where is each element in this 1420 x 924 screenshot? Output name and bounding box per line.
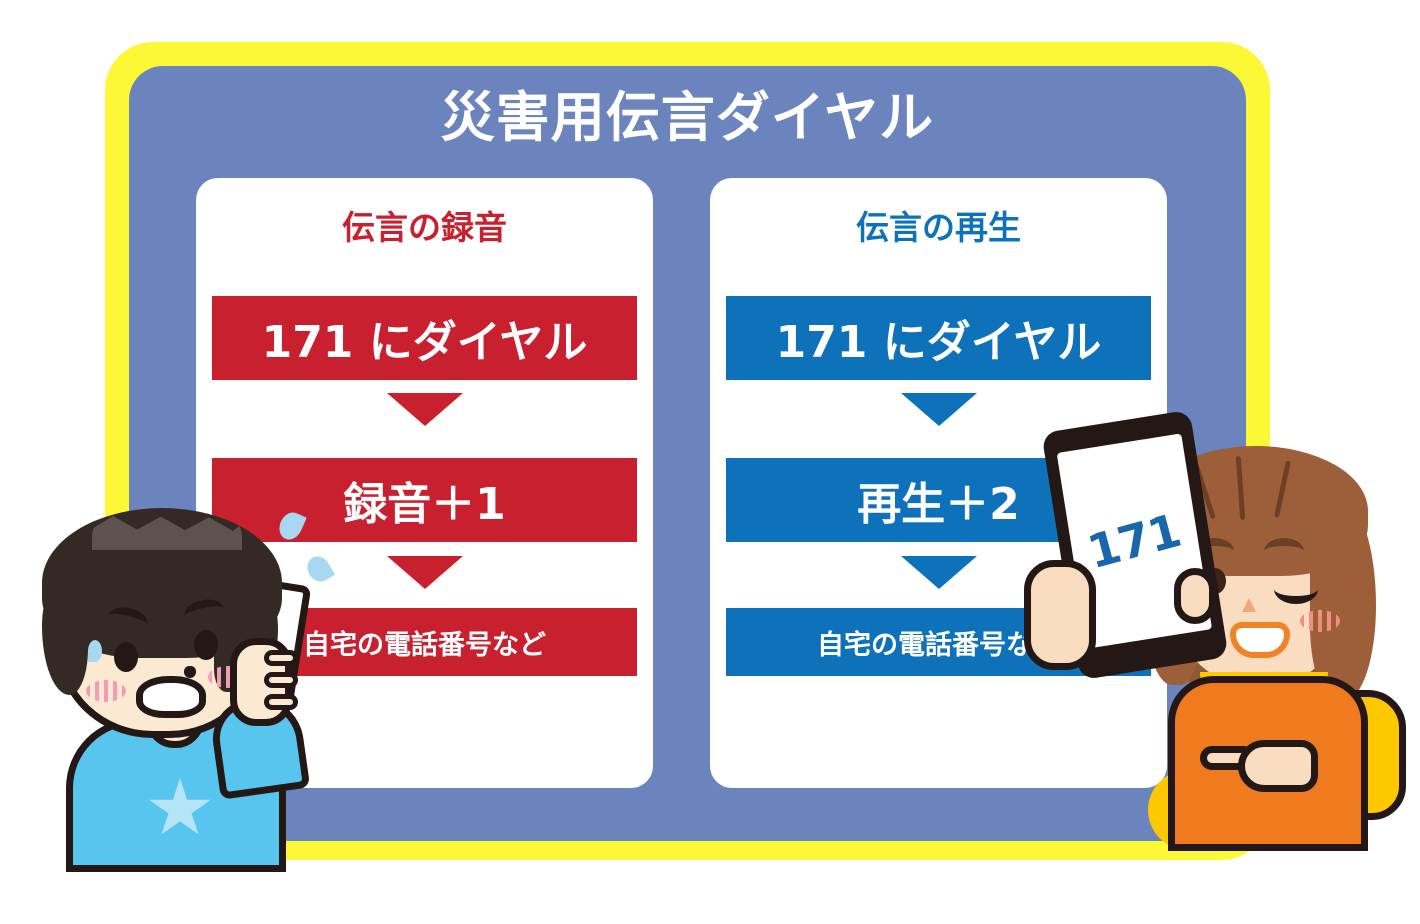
worried-boy-illustration — [18, 490, 348, 890]
playback-step-2-label: 再生＋2 — [857, 468, 1020, 532]
boy-finger-2 — [264, 672, 298, 688]
boy-shirt-hem — [66, 842, 286, 872]
woman-eyebrow-right — [1264, 538, 1304, 564]
playback-arrow-down-2-icon — [901, 556, 977, 589]
sweat-drop-icon-3 — [88, 640, 102, 662]
boy-finger-1 — [264, 650, 298, 666]
boy-nose — [184, 666, 196, 678]
record-step-1-banner: 171 にダイヤル — [212, 296, 637, 380]
woman-cheek-right — [1300, 610, 1340, 632]
playback-step-1-banner: 171 にダイヤル — [726, 296, 1151, 380]
boy-mouth — [136, 676, 206, 718]
woman-pointing-hand — [1238, 740, 1318, 792]
boy-eye-right — [194, 630, 218, 660]
sweat-drop-icon-1 — [275, 509, 306, 544]
record-step-2-label: 録音＋1 — [343, 468, 506, 532]
card-playback-heading: 伝言の再生 — [710, 210, 1167, 246]
woman-nose — [1242, 598, 1256, 612]
record-arrow-down-1-icon — [387, 393, 463, 426]
record-arrow-down-2-icon — [387, 556, 463, 589]
woman-mouth — [1230, 622, 1290, 658]
boy-cheek-left — [86, 680, 126, 702]
card-record-heading: 伝言の録音 — [196, 210, 653, 246]
smiling-woman-illustration: 171 — [1052, 440, 1420, 890]
poster-stage: 災害用伝言ダイヤル 伝言の録音 171 にダイヤル 録音＋1 自宅の電話番号など… — [0, 0, 1420, 924]
playback-step-1-label: 171 にダイヤル — [776, 306, 1102, 370]
smartphone-screen-number: 171 — [1082, 503, 1186, 579]
boy-finger-3 — [264, 694, 298, 710]
woman-thumb — [1174, 568, 1216, 624]
page-title: 災害用伝言ダイヤル — [129, 88, 1246, 147]
playback-arrow-down-1-icon — [901, 393, 977, 426]
woman-holding-hand — [1024, 560, 1096, 670]
record-step-1-label: 171 にダイヤル — [262, 306, 588, 370]
boy-eye-left — [114, 642, 138, 672]
woman-eye-wink — [1274, 574, 1318, 604]
sweat-drop-icon-2 — [303, 552, 335, 586]
